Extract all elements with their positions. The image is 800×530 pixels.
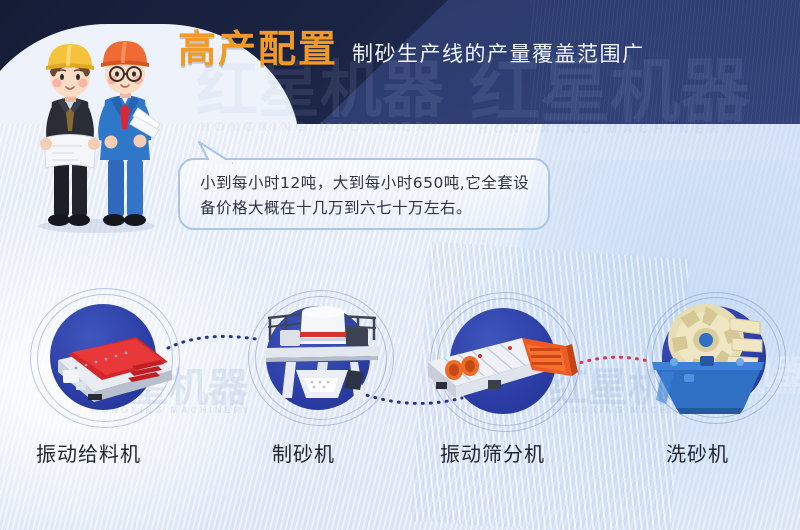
engineer-right	[98, 41, 160, 226]
flow-node-2[interactable]	[248, 290, 394, 426]
page-title: 高产配置	[178, 30, 338, 68]
engineer-left	[40, 44, 100, 226]
flow-node-1[interactable]	[30, 288, 180, 428]
engineers-illustration	[22, 28, 172, 233]
poster-canvas: 红星机器 HONGXING MACHINERY 红星机器 HONGXING MA…	[0, 0, 800, 530]
vibrating-feeder-icon	[36, 312, 186, 412]
flow-node-1-label: 振动给料机	[36, 438, 141, 467]
sand-making-machine-icon	[240, 294, 402, 420]
flow-node-3[interactable]	[430, 292, 580, 432]
page-subtitle: 制砂生产线的产量覆盖范围广	[352, 44, 645, 68]
flow-node-4-label: 洗砂机	[666, 438, 729, 467]
flow-node-2-label: 制砂机	[272, 438, 335, 467]
speech-bubble: 小到每小时12吨，大到每小时650吨,它全套设备价格大概在十几万到六七十万左右。	[178, 158, 550, 230]
speech-bubble-text: 小到每小时12吨，大到每小时650吨,它全套设备价格大概在十几万到六七十万左右。	[200, 171, 540, 221]
speech-bubble-tail	[196, 140, 234, 164]
sand-washing-machine-icon	[614, 296, 794, 420]
header-title-group: 高产配置 制砂生产线的产量覆盖范围广	[178, 30, 645, 68]
vibrating-screen-icon	[414, 314, 590, 418]
flow-node-4[interactable]	[646, 292, 786, 424]
flow-node-3-label: 振动筛分机	[440, 438, 545, 467]
